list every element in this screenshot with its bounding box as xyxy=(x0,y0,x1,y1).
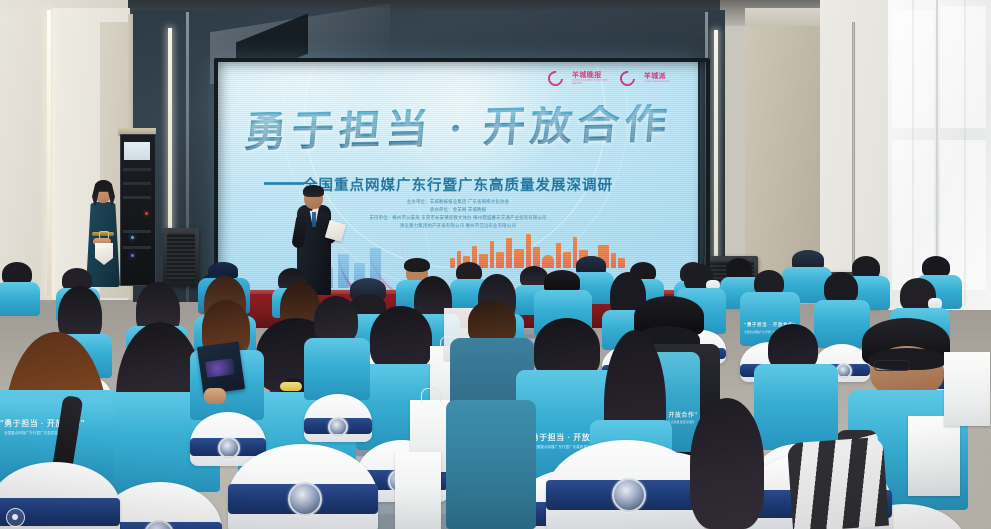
tote-bag xyxy=(944,352,990,426)
audience-hair xyxy=(534,318,600,378)
rack-indicator-led xyxy=(131,236,134,239)
wall-light-strip xyxy=(714,30,718,278)
speaker-grill xyxy=(167,233,195,281)
vest-slogan: "勇于担当 · 开放合作" xyxy=(0,418,114,429)
circular-watermark xyxy=(6,508,25,527)
baseball-cap-icon xyxy=(544,270,580,292)
rack-slot xyxy=(123,182,151,185)
audience-hair xyxy=(370,306,432,370)
tote-bag-handle xyxy=(421,388,441,402)
eyeglasses-icon xyxy=(874,360,910,371)
audience-vest xyxy=(446,400,536,529)
presenter-hair xyxy=(303,185,324,197)
presenter-tie xyxy=(312,212,316,227)
chair-buckle xyxy=(612,478,646,512)
tote-bag xyxy=(908,416,960,496)
audience-vest xyxy=(304,338,370,400)
audience-hair xyxy=(404,258,430,272)
conference-photo: 羊城晚报 YANGCHENG EVENING NEWS 羊城派 YANGCHEN… xyxy=(0,0,991,529)
rack-indicator-led xyxy=(145,212,148,215)
window-frame-line xyxy=(964,0,966,305)
chair-buckle xyxy=(328,417,348,437)
rack-slot xyxy=(123,196,151,199)
wall-light-strip xyxy=(47,10,51,296)
rack-indicator-led xyxy=(131,254,134,257)
audience-hand xyxy=(204,388,226,404)
rack-slot xyxy=(123,246,151,249)
room-interior: 羊城晚报 YANGCHENG EVENING NEWS 羊城派 YANGCHEN… xyxy=(0,0,991,529)
window-pane xyxy=(940,6,986,128)
rack-display-panel xyxy=(124,142,150,160)
pa-speaker xyxy=(163,228,199,286)
audience-hair xyxy=(314,296,358,344)
rack-slot xyxy=(123,230,151,233)
chair-buckle xyxy=(218,437,240,459)
striped-garment xyxy=(787,437,889,529)
audience-vest xyxy=(754,364,838,450)
chair-buckle xyxy=(288,482,322,516)
chair-buckle xyxy=(836,363,852,379)
rack-slot xyxy=(123,168,151,171)
tote-bag xyxy=(395,452,441,529)
window-frame-line xyxy=(912,0,914,305)
audience-hair xyxy=(690,398,764,529)
hair-tie-icon xyxy=(280,382,302,391)
audience-vest xyxy=(0,282,40,316)
